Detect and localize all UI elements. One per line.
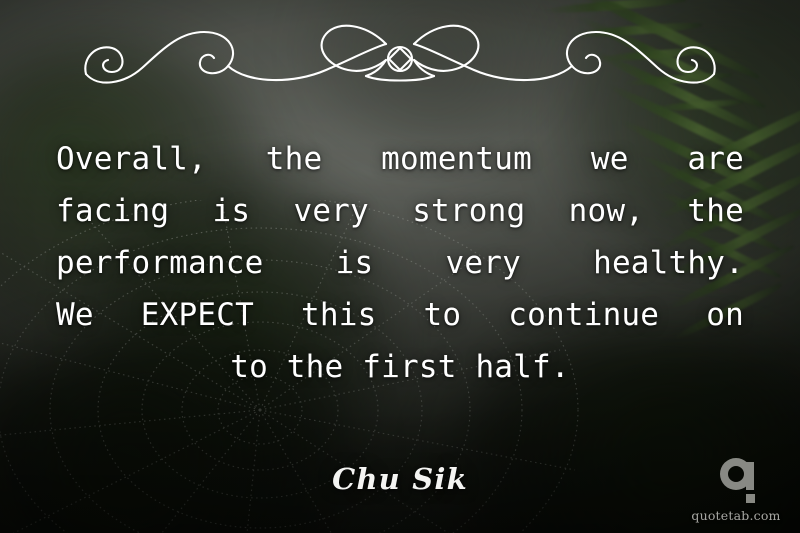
quote-word: is [336,237,374,289]
quote-word: momentum [381,133,532,185]
quote-word: Overall, [56,133,207,185]
quote-word: this [301,289,376,341]
quote-line: facing is very strong now, the [56,185,744,237]
quote-word: we [591,133,629,185]
quote-word: very [445,237,520,289]
quote-word: is [212,185,250,237]
quote-line: Overall, the momentum we are [56,133,744,185]
quote-word: now, [569,185,644,237]
quote-line: to the first half. [56,341,744,393]
quote-card: Overall, the momentum we are facing is v… [0,0,800,533]
quote-word: EXPECT [141,289,254,341]
quote-word: are [687,133,744,185]
brand-watermark[interactable]: quotetab.com [688,454,784,523]
watermark-text: quotetab.com [688,508,784,523]
quote-word: healthy. [593,237,744,289]
quote-word: the [687,185,744,237]
quote-word: the [266,133,323,185]
card-foreground: Overall, the momentum we are facing is v… [0,0,800,533]
quotetab-q-logo-icon[interactable] [710,454,762,506]
quote-word: to [423,289,461,341]
decorative-flourish-icon [80,14,720,86]
quote-text: Overall, the momentum we are facing is v… [56,133,744,393]
quote-word: strong [412,185,525,237]
quote-word: facing [56,185,169,237]
quote-word: continue [508,289,659,341]
quote-word: on [706,289,744,341]
quote-author: Chu Sik [0,462,800,496]
quote-line: performance is very healthy. [56,237,744,289]
quote-word: We [56,289,94,341]
quote-line: We EXPECT this to continue on [56,289,744,341]
quote-word: very [293,185,368,237]
quote-word: performance [56,237,264,289]
